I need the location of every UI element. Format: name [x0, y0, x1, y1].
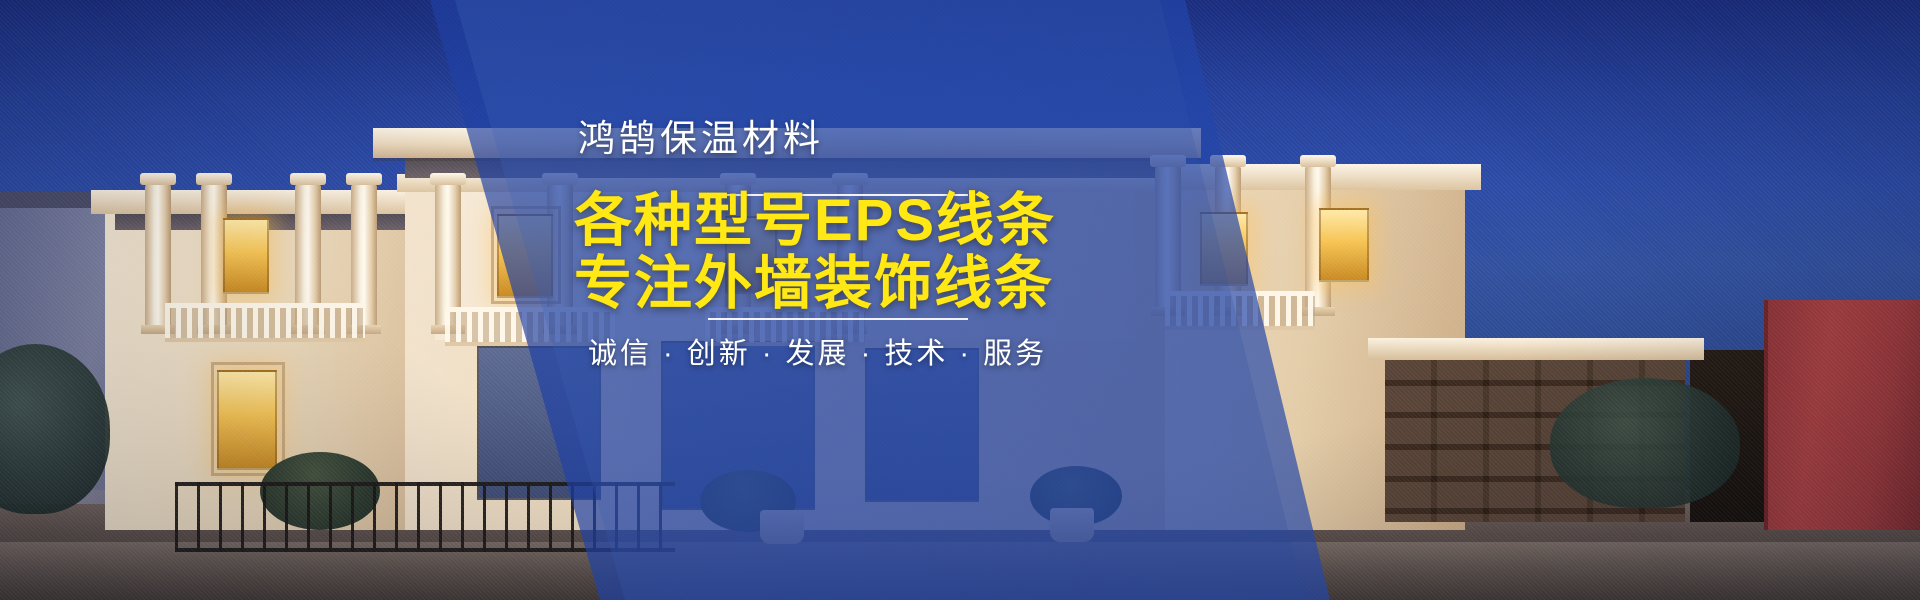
window-frame: [491, 206, 561, 304]
villa-left-wing-roof: [91, 190, 441, 214]
headline-line-1: 各种型号EPS线条: [574, 190, 1234, 253]
window-frame: [211, 362, 285, 476]
brand-name: 鸿鹄保温材料: [578, 108, 824, 162]
headline-line-2: 专注外墙装饰线条: [574, 253, 1234, 316]
banner-text-block: 鸿鹄保温材料 各种型号EPS线条 专注外墙装饰线条 诚信 · 创新 · 发展 ·…: [560, 0, 1260, 600]
red-container: [1764, 300, 1920, 530]
divider-bottom: [708, 318, 968, 320]
balustrade: [165, 303, 365, 342]
window-glowing: [223, 218, 269, 294]
garage-lintel: [1368, 338, 1704, 360]
headline-group: 各种型号EPS线条 专注外墙装饰线条: [574, 190, 1234, 315]
window-glowing: [1319, 208, 1369, 282]
hero-banner: 鸿鹄保温材料 各种型号EPS线条 专注外墙装饰线条 诚信 · 创新 · 发展 ·…: [0, 0, 1920, 600]
tagline: 诚信 · 创新 · 发展 · 技术 · 服务: [588, 330, 1047, 372]
tree: [1550, 378, 1740, 508]
